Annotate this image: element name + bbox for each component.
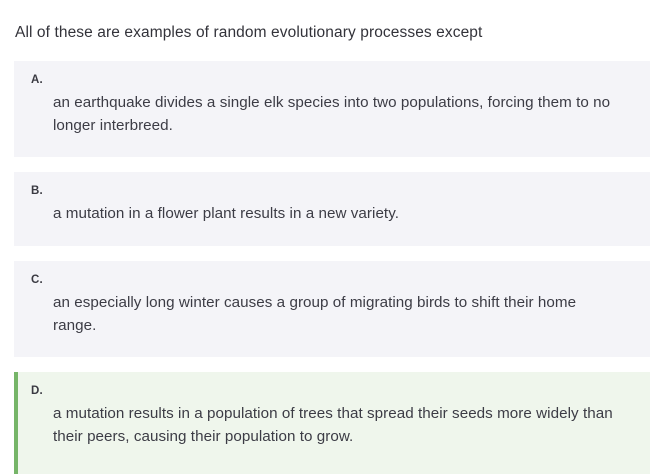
answer-options-list: A. an earthquake divides a single elk sp… xyxy=(0,61,650,474)
answer-option-b[interactable]: B. a mutation in a flower plant results … xyxy=(14,172,650,246)
answer-option-b-text: a mutation in a flower plant results in … xyxy=(14,202,632,225)
answer-option-a[interactable]: A. an earthquake divides a single elk sp… xyxy=(14,61,650,157)
answer-option-c-text: an especially long winter causes a group… xyxy=(14,291,632,337)
answer-option-c[interactable]: C. an especially long winter causes a gr… xyxy=(14,261,650,357)
answer-option-b-letter: B. xyxy=(14,184,632,198)
answer-option-d-letter: D. xyxy=(18,384,632,398)
answer-option-d[interactable]: D. a mutation results in a population of… xyxy=(14,372,650,474)
answer-option-a-text: an earthquake divides a single elk speci… xyxy=(14,91,632,137)
quiz-question-panel: All of these are examples of random evol… xyxy=(0,0,650,470)
answer-option-c-letter: C. xyxy=(14,273,632,287)
question-prompt: All of these are examples of random evol… xyxy=(0,0,650,44)
answer-option-d-text: a mutation results in a population of tr… xyxy=(18,402,632,448)
answer-option-a-letter: A. xyxy=(14,73,632,87)
